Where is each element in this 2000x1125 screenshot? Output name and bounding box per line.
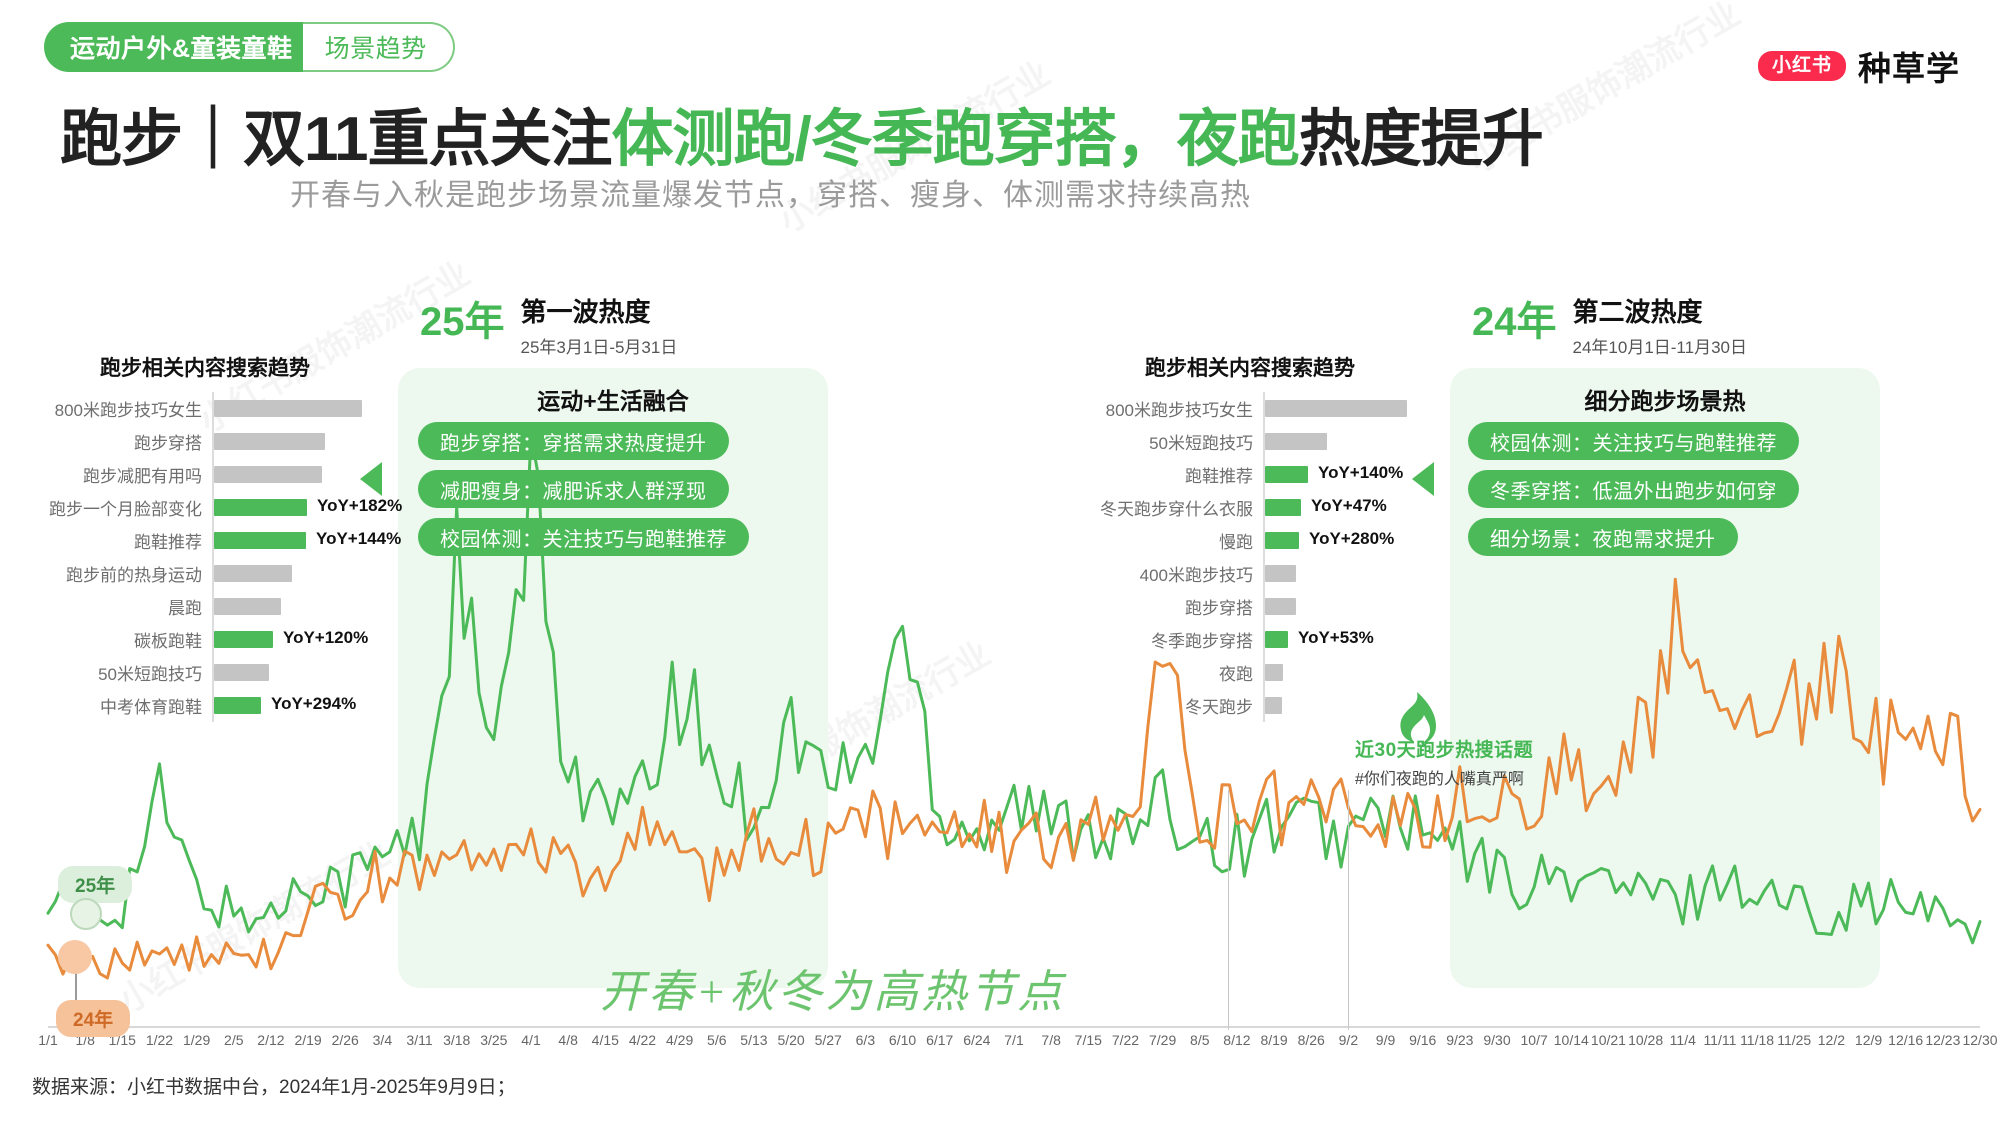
bar	[214, 532, 306, 549]
x-axis-tick: 11/18	[1740, 1032, 1774, 1048]
bar	[1265, 664, 1283, 681]
wave1-year-label: 25年	[420, 296, 505, 342]
x-axis-tick: 5/20	[777, 1032, 804, 1048]
wave2-header: 24年 第二波热度 24年10月1日-11月30日	[1472, 296, 1747, 358]
x-axis-tick: 1/1	[38, 1032, 57, 1048]
bar	[214, 598, 281, 615]
bar	[1265, 565, 1296, 582]
wave2-box-title: 细分跑步场景热	[1450, 382, 1880, 416]
x-axis-tick: 4/15	[592, 1032, 619, 1048]
bar-row: 跑步一个月脸部变化YoY+182%	[40, 491, 370, 524]
x-axis-tick: 4/1	[521, 1032, 540, 1048]
bar-row-track: YoY+294%	[212, 689, 370, 722]
x-axis-tick: 6/3	[856, 1032, 875, 1048]
x-axis-tick: 7/22	[1112, 1032, 1139, 1048]
bar-row: 碳板跑鞋YoY+120%	[40, 623, 370, 656]
source-note: 数据来源：小红书数据中台，2024年1月-2025年9月9日；	[32, 1072, 516, 1099]
x-axis-tick: 6/17	[926, 1032, 953, 1048]
bar-row: 跑鞋推荐YoY+144%	[40, 524, 370, 557]
x-axis-tick: 12/30	[1962, 1032, 1997, 1048]
wave1-pointer-arrow	[360, 462, 382, 496]
wave2-pill-2[interactable]: 冬季穿搭：低温外出跑步如何穿	[1468, 470, 1799, 508]
bar-chart-right-rows: 800米跑步技巧女生50米短跑技巧跑鞋推荐YoY+140%冬天跑步穿什么衣服Yo…	[1085, 392, 1415, 722]
bar-row-label: 跑步前的热身运动	[40, 561, 212, 586]
x-axis-tick: 4/29	[666, 1032, 693, 1048]
bar-yoy-annotation: YoY+182%	[317, 496, 402, 516]
x-axis-tick: 10/14	[1554, 1032, 1589, 1048]
x-axis-tick: 1/22	[146, 1032, 173, 1048]
bar-yoy-annotation: YoY+280%	[1309, 529, 1394, 549]
bar-row: 跑步减肥有用吗	[40, 458, 370, 491]
x-axis-tick: 9/9	[1376, 1032, 1395, 1048]
bar-row-label: 跑步穿搭	[1085, 594, 1263, 619]
bar	[1265, 631, 1288, 648]
bar-row-label: 800米跑步技巧女生	[1085, 396, 1263, 421]
bar-row: 800米跑步技巧女生	[40, 392, 370, 425]
bar-row-label: 400米跑步技巧	[1085, 561, 1263, 586]
title-segment-green-2: 夜跑	[1177, 105, 1299, 174]
x-axis-tick: 5/6	[707, 1032, 726, 1048]
bar-row: 晨跑	[40, 590, 370, 623]
wave1-pill-1[interactable]: 跑步穿搭：穿搭需求热度提升	[418, 422, 729, 460]
bar	[214, 697, 261, 714]
x-axis-tick: 3/11	[406, 1032, 432, 1048]
bar-row-label: 晨跑	[40, 594, 212, 619]
bar-row: 跑步前的热身运动	[40, 557, 370, 590]
header-tag-pill: 运动户外&童装童鞋 场景趋势	[44, 22, 455, 72]
wave2-year-label: 24年	[1472, 296, 1557, 342]
bar	[1265, 466, 1308, 483]
bar	[1265, 433, 1327, 450]
x-axis-tick: 10/7	[1521, 1032, 1548, 1048]
bar-row-track: YoY+144%	[212, 524, 370, 557]
hot-topic-title: 近30天跑步热搜话题	[1355, 735, 1533, 762]
bar	[1265, 532, 1299, 549]
x-axis-tick: 9/16	[1409, 1032, 1436, 1048]
series-24-marker	[58, 940, 92, 974]
bar-row-track: YoY+280%	[1263, 524, 1415, 557]
x-axis-tick: 8/19	[1260, 1032, 1287, 1048]
bar-row-label: 慢跑	[1085, 528, 1263, 553]
bar-row-label: 800米跑步技巧女生	[40, 396, 212, 421]
bar-yoy-annotation: YoY+294%	[271, 694, 356, 714]
bar-row: 400米跑步技巧	[1085, 557, 1415, 590]
wave1-pill-2[interactable]: 减肥瘦身：减肥诉求人群浮现	[418, 470, 729, 508]
bar-row: 800米跑步技巧女生	[1085, 392, 1415, 425]
wave2-pill-1[interactable]: 校园体测：关注技巧与跑鞋推荐	[1468, 422, 1799, 460]
x-axis-tick: 2/26	[332, 1032, 359, 1048]
x-axis-tick: 4/8	[558, 1032, 577, 1048]
bar-row-track: YoY+120%	[212, 623, 370, 656]
wave1-box-title: 运动+生活融合	[398, 382, 828, 416]
script-annotation: 开春+秋冬为高热节点	[600, 955, 1065, 1020]
x-axis-tick: 3/18	[443, 1032, 470, 1048]
x-axis-tick: 12/16	[1888, 1032, 1923, 1048]
wave2-pointer-arrow	[1412, 462, 1434, 496]
tag-secondary-label: 场景趋势	[303, 22, 455, 72]
bar-row-track	[1263, 392, 1415, 425]
bar-row: 冬天跑步穿什么衣服YoY+47%	[1085, 491, 1415, 524]
bar-row: 跑步穿搭	[1085, 590, 1415, 623]
bar-chart-right: 跑步相关内容搜索趋势 800米跑步技巧女生50米短跑技巧跑鞋推荐YoY+140%…	[1085, 352, 1415, 722]
bar-row-track: YoY+182%	[212, 491, 370, 524]
x-axis-tick: 6/10	[889, 1032, 916, 1048]
x-axis-tick: 5/27	[815, 1032, 842, 1048]
title-segment-black-1: 跑步｜双11重点关注	[60, 105, 612, 174]
x-axis-tick: 12/2	[1818, 1032, 1845, 1048]
bar-row-label: 跑步减肥有用吗	[40, 462, 212, 487]
bar-row-label: 冬天跑步穿什么衣服	[1085, 495, 1263, 520]
x-axis-tick: 11/4	[1670, 1032, 1696, 1048]
x-axis-tick: 10/28	[1628, 1032, 1663, 1048]
bar	[214, 466, 322, 483]
bar-row: 慢跑YoY+280%	[1085, 524, 1415, 557]
x-axis-tick: 5/13	[740, 1032, 767, 1048]
page-subtitle: 开春与入秋是跑步场景流量爆发节点，穿搭、瘦身、体测需求持续高热	[290, 170, 1251, 214]
x-axis-tick: 7/29	[1149, 1032, 1176, 1048]
bar-row: 冬天跑步	[1085, 689, 1415, 722]
bar-yoy-annotation: YoY+53%	[1298, 628, 1374, 648]
bar	[214, 400, 362, 417]
bar-yoy-annotation: YoY+144%	[316, 529, 401, 549]
bar-row-track	[212, 392, 370, 425]
x-axis-tick: 2/12	[257, 1032, 284, 1048]
x-axis-tick: 7/15	[1075, 1032, 1102, 1048]
x-axis-tick: 9/23	[1446, 1032, 1473, 1048]
bar-row-track	[212, 458, 370, 491]
wave2-title: 第二波热度	[1573, 296, 1748, 329]
bar-row-track	[212, 557, 370, 590]
bar-chart-left-rows: 800米跑步技巧女生跑步穿搭跑步减肥有用吗跑步一个月脸部变化YoY+182%跑鞋…	[40, 392, 370, 722]
series-24-badge: 24年	[56, 1000, 130, 1037]
bar-row-track: YoY+53%	[1263, 623, 1415, 656]
wave1-title: 第一波热度	[521, 296, 678, 329]
brand-lockup: 小红书 种草学	[1758, 42, 1960, 90]
bar	[214, 631, 273, 648]
bar-row: 冬季跑步穿搭YoY+53%	[1085, 623, 1415, 656]
bar-row-label: 跑步穿搭	[40, 429, 212, 454]
x-axis-tick: 9/2	[1339, 1032, 1358, 1048]
bar-row-label: 中考体育跑鞋	[40, 693, 212, 718]
bar-row: 50米短跑技巧	[40, 656, 370, 689]
xiaohongshu-logo-badge: 小红书	[1758, 51, 1846, 81]
title-segment-black-2: 热度提升	[1299, 105, 1543, 174]
x-axis-tick: 11/25	[1777, 1032, 1811, 1048]
bar	[1265, 598, 1296, 615]
bar-row-label: 夜跑	[1085, 660, 1263, 685]
bar	[214, 565, 292, 582]
bar-row-label: 跑鞋推荐	[1085, 462, 1263, 487]
page-title: 跑步｜双11重点关注体测跑/冬季跑穿搭，夜跑热度提升	[60, 88, 1543, 178]
x-axis-tick: 2/5	[224, 1032, 243, 1048]
bar	[214, 499, 307, 516]
bar-yoy-annotation: YoY+47%	[1311, 496, 1387, 516]
x-axis-tick: 3/4	[373, 1032, 392, 1048]
bar	[214, 433, 325, 450]
hot-topic-callout: 近30天跑步热搜话题 #你们夜跑的人嘴真严啊	[1355, 735, 1533, 789]
bar	[1265, 697, 1282, 714]
x-axis-tick: 8/5	[1190, 1032, 1209, 1048]
wave1-date-range: 25年3月1日-5月31日	[521, 333, 678, 358]
bar-row-label: 跑步一个月脸部变化	[40, 495, 212, 520]
bar-row-track	[212, 425, 370, 458]
bar-row-track	[1263, 557, 1415, 590]
bar-row-track	[1263, 656, 1415, 689]
x-axis-tick: 7/1	[1004, 1032, 1023, 1048]
x-axis-tick: 11/11	[1703, 1032, 1736, 1048]
x-axis-tick: 9/30	[1483, 1032, 1510, 1048]
x-axis-tick-labels: 1/11/81/151/221/292/52/122/192/263/43/11…	[0, 1032, 2000, 1062]
bar-chart-right-title: 跑步相关内容搜索趋势	[1085, 352, 1415, 382]
x-axis-tick: 8/26	[1298, 1032, 1325, 1048]
bar-row-label: 跑鞋推荐	[40, 528, 212, 553]
bar-row-track	[212, 590, 370, 623]
wave1-header: 25年 第一波热度 25年3月1日-5月31日	[420, 296, 677, 358]
x-axis-tick: 1/29	[183, 1032, 210, 1048]
bar-row-label: 冬天跑步	[1085, 693, 1263, 718]
bar-row: 中考体育跑鞋YoY+294%	[40, 689, 370, 722]
bar	[214, 664, 269, 681]
brand-name-label: 种草学	[1858, 42, 1960, 90]
bar-yoy-annotation: YoY+120%	[283, 628, 368, 648]
tag-primary-label: 运动户外&童装童鞋	[44, 22, 317, 72]
x-axis-tick: 8/12	[1223, 1032, 1250, 1048]
bar-row-track	[212, 656, 370, 689]
x-axis-tick: 4/22	[629, 1032, 656, 1048]
bar-yoy-annotation: YoY+140%	[1318, 463, 1403, 483]
hot-topic-subtitle: #你们夜跑的人嘴真严啊	[1355, 765, 1533, 789]
x-axis-tick: 2/19	[294, 1032, 321, 1048]
bar	[1265, 499, 1301, 516]
series-25-marker	[70, 898, 102, 930]
title-segment-green-1: 体测跑/冬季跑穿搭，	[612, 105, 1177, 174]
x-axis-tick: 3/25	[480, 1032, 507, 1048]
x-axis-tick: 7/8	[1041, 1032, 1060, 1048]
bar-row: 夜跑	[1085, 656, 1415, 689]
bar-row-track	[1263, 590, 1415, 623]
guide-line-right	[1348, 790, 1349, 1030]
x-axis-tick: 10/21	[1591, 1032, 1626, 1048]
wave2-pill-3[interactable]: 细分场景：夜跑需求提升	[1468, 518, 1738, 556]
bar-row: 跑步穿搭	[40, 425, 370, 458]
x-axis-tick: 12/23	[1925, 1032, 1960, 1048]
wave2-date-range: 24年10月1日-11月30日	[1573, 333, 1748, 358]
bar-row-label: 50米短跑技巧	[40, 660, 212, 685]
bar-row-label: 碳板跑鞋	[40, 627, 212, 652]
bar-row-track: YoY+47%	[1263, 491, 1415, 524]
bar-row-label: 50米短跑技巧	[1085, 429, 1263, 454]
bar-row: 50米短跑技巧	[1085, 425, 1415, 458]
bar-row-track: YoY+140%	[1263, 458, 1415, 491]
bar-row: 跑鞋推荐YoY+140%	[1085, 458, 1415, 491]
bar-chart-left: 跑步相关内容搜索趋势 800米跑步技巧女生跑步穿搭跑步减肥有用吗跑步一个月脸部变…	[40, 352, 370, 722]
x-axis-tick: 6/24	[963, 1032, 990, 1048]
bar-row-label: 冬季跑步穿搭	[1085, 627, 1263, 652]
x-axis-tick: 12/9	[1855, 1032, 1882, 1048]
bar	[1265, 400, 1407, 417]
wave1-pill-3[interactable]: 校园体测：关注技巧与跑鞋推荐	[418, 518, 749, 556]
guide-line-left	[1228, 790, 1229, 1030]
series-25-badge: 25年	[58, 866, 132, 903]
bar-chart-left-title: 跑步相关内容搜索趋势	[40, 352, 370, 382]
bar-row-track	[1263, 425, 1415, 458]
